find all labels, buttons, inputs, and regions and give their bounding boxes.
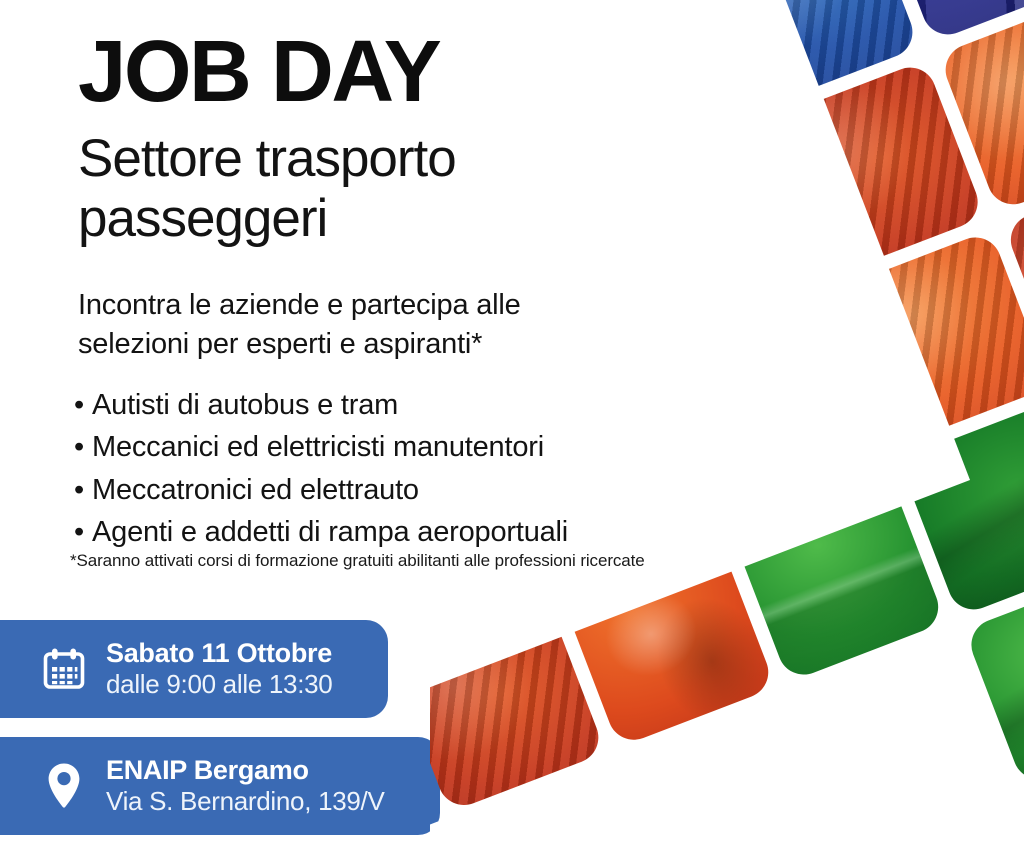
roles-list: •Autisti di autobus e tram•Meccanici ed …	[74, 384, 568, 553]
bullet-icon: •	[74, 384, 92, 426]
role-label: Autisti di autobus e tram	[92, 389, 398, 421]
role-list-item: •Meccanici ed elettricisti manutentori	[74, 426, 568, 468]
lead-paragraph: Incontra le aziende e partecipa alle sel…	[78, 286, 598, 363]
page-subtitle: Settore trasporto passeggeri	[78, 129, 598, 249]
location-badge: ENAIP Bergamo Via S. Bernardino, 139/V	[0, 737, 440, 835]
bullet-icon: •	[74, 426, 92, 468]
role-label: Meccanici ed elettricisti manutentori	[92, 431, 544, 463]
date-badge-text: Sabato 11 Ottobre dalle 9:00 alle 13:30	[106, 638, 332, 700]
calendar-icon	[42, 646, 86, 692]
job-day-poster: JOB DAY Settore trasporto passeggeri Inc…	[0, 0, 1024, 861]
role-list-item: •Autisti di autobus e tram	[74, 384, 568, 426]
bullet-icon: •	[74, 511, 92, 553]
footnote: *Saranno attivati corsi di formazione gr…	[70, 550, 645, 572]
role-list-item: •Meccatronici ed elettrauto	[74, 469, 568, 511]
page-title: JOB DAY	[78, 28, 439, 115]
bullet-icon: •	[74, 469, 92, 511]
date-badge-subtitle: dalle 9:00 alle 13:30	[106, 669, 332, 700]
location-badge-title: ENAIP Bergamo	[106, 755, 385, 786]
date-badge: Sabato 11 Ottobre dalle 9:00 alle 13:30	[0, 620, 388, 718]
location-badge-subtitle: Via S. Bernardino, 139/V	[106, 786, 385, 817]
role-label: Agenti e addetti di rampa aeroportuali	[92, 516, 568, 548]
location-badge-text: ENAIP Bergamo Via S. Bernardino, 139/V	[106, 755, 385, 817]
date-badge-title: Sabato 11 Ottobre	[106, 638, 332, 669]
location-pin-icon	[42, 763, 86, 809]
role-list-item: •Agenti e addetti di rampa aeroportuali	[74, 511, 568, 553]
role-label: Meccatronici ed elettrauto	[92, 474, 419, 506]
